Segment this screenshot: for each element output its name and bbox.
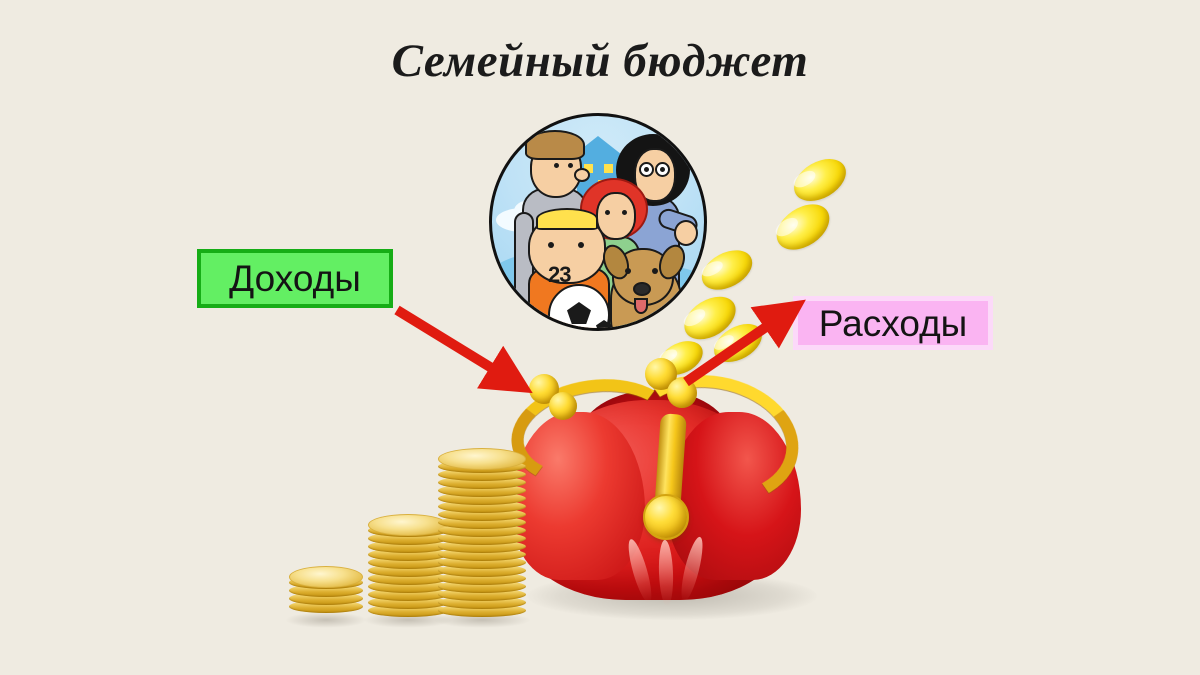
dog-eye [652,268,658,274]
boy-hair [536,208,598,230]
family-illustration: 23 [489,113,707,331]
expenses-label-box[interactable]: Расходы [793,296,993,350]
income-label-box[interactable]: Доходы [197,249,393,308]
purse-knob-ball [549,392,577,420]
income-label-text: Доходы [229,260,361,297]
expenses-label-text: Расходы [819,305,968,342]
dog-tongue [634,298,648,314]
dog-nose [633,282,651,296]
girl-eye [605,210,610,215]
father-eye [554,163,559,168]
coin-stack-small [289,566,363,624]
page-title: Семейный бюджет [0,34,1200,88]
coin-purse [505,352,805,630]
flying-coin [787,150,853,209]
flying-coin [695,242,759,297]
coin-stack-large [438,448,526,628]
father-nose [574,168,590,182]
mother-eye [660,167,665,172]
mother-eye [644,167,649,172]
father-hair [525,130,585,160]
purse-center-button [643,494,689,540]
girl-eye [622,210,627,215]
mother-hand [674,220,698,246]
purse-knob-ball [667,378,697,408]
flying-coin [768,195,837,259]
coin-stack-medium [368,516,448,628]
jersey-number: 23 [548,262,570,288]
dog-eye [625,268,631,274]
slide-canvas: Семейный бюджет [0,0,1200,675]
boy-eye [548,242,554,248]
father-eye [568,163,573,168]
house-window [604,164,613,173]
boy-eye [578,242,584,248]
